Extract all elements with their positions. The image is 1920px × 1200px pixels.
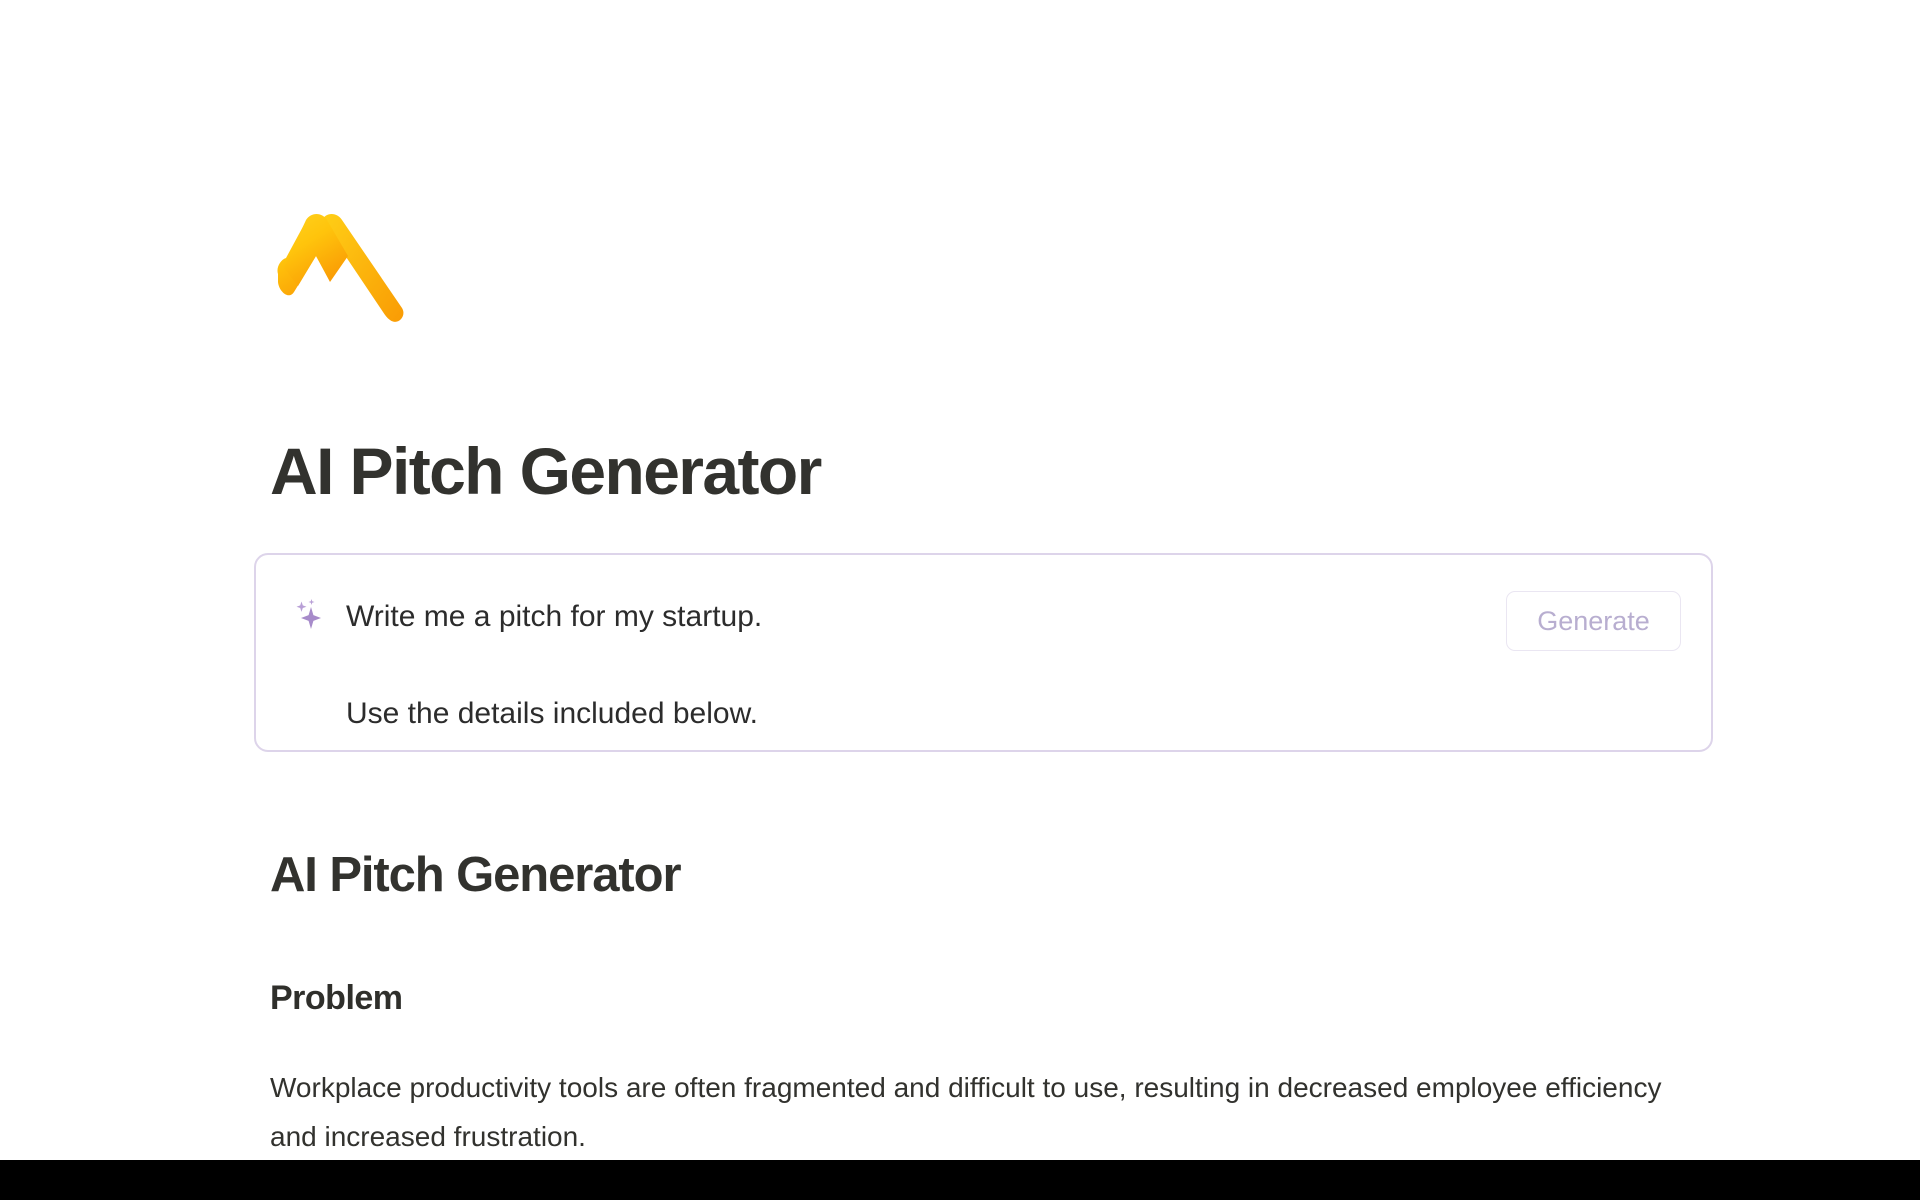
sparkle-ai-icon (290, 596, 328, 634)
generate-button[interactable]: Generate (1506, 591, 1681, 651)
prompt-row: Write me a pitch for my startup. Use the… (278, 555, 1678, 750)
mountain-m-logo-icon (270, 196, 420, 326)
bottom-letterbox-bar (0, 1160, 1920, 1200)
document-title: AI Pitch Generator (270, 845, 680, 905)
section-body-problem: Workplace productivity tools are often f… (270, 1063, 1670, 1160)
prompt-text-line-1[interactable]: Write me a pitch for my startup. (346, 598, 762, 636)
app-viewport: AI Pitch Generator Write me a pitch for … (0, 0, 1920, 1200)
page-canvas: AI Pitch Generator Write me a pitch for … (0, 0, 1920, 1160)
prompt-card: Write me a pitch for my startup. Use the… (254, 553, 1713, 752)
section-heading-problem: Problem (270, 976, 403, 1020)
page-title: AI Pitch Generator (270, 432, 821, 510)
prompt-text-line-2[interactable]: Use the details included below. (346, 695, 758, 733)
